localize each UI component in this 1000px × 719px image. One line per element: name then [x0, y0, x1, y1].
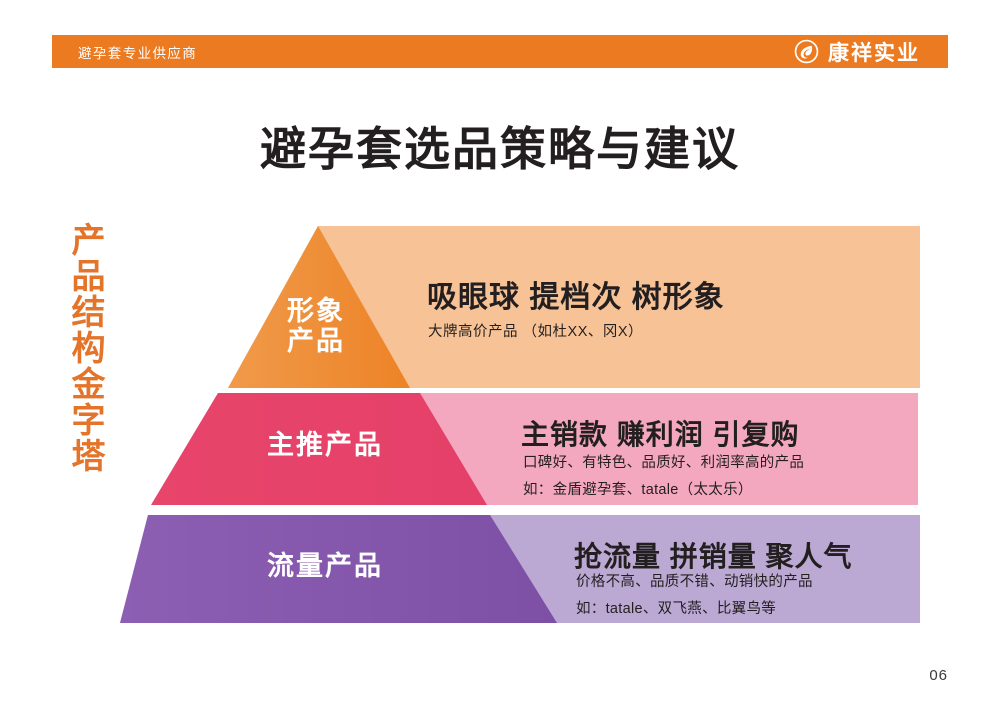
pyramid-diagram	[0, 0, 1000, 719]
tier-subtext-traffic-products-1: 价格不高、品质不错、动销快的产品	[576, 570, 813, 591]
tier-label-image-products: 形象 产品	[255, 296, 377, 356]
tier-subtext-image-products-1: 大牌高价产品 （如杜XX、冈X）	[428, 320, 643, 341]
tier-label-main-push-products: 主推产品	[235, 430, 415, 460]
header-tagline: 避孕套专业供应商	[52, 42, 197, 62]
swirl-leaf-circle-icon	[794, 39, 819, 64]
tier-subtext-traffic-products-2: 如：tatale、双飞燕、比翼鸟等	[576, 597, 776, 618]
tier-headline-traffic-products: 抢流量 拼销量 聚人气	[574, 535, 853, 575]
tier-headline-image-products: 吸眼球 提档次 树形象	[427, 272, 725, 316]
page-number: 06	[929, 667, 948, 684]
brand-name: 康祥实业	[828, 37, 920, 67]
tier-subtext-main-push-products-2: 如：金盾避孕套、tatale（太太乐）	[523, 478, 753, 499]
slide-canvas: 避孕套专业供应商 康祥实业 避孕套选品策略与建议 产品结构金字塔	[0, 0, 1000, 719]
tier-label-traffic-products: 流量产品	[215, 551, 435, 581]
page-title: 避孕套选品策略与建议	[0, 113, 1000, 179]
brand-lockup: 康祥实业	[794, 37, 948, 67]
vertical-section-caption: 产品结构金字塔	[60, 222, 106, 474]
header-bar: 避孕套专业供应商 康祥实业	[52, 35, 948, 68]
tier-headline-main-push-products: 主销款 赚利润 引复购	[521, 413, 800, 453]
tier-subtext-main-push-products-1: 口碑好、有特色、品质好、利润率高的产品	[523, 451, 804, 472]
